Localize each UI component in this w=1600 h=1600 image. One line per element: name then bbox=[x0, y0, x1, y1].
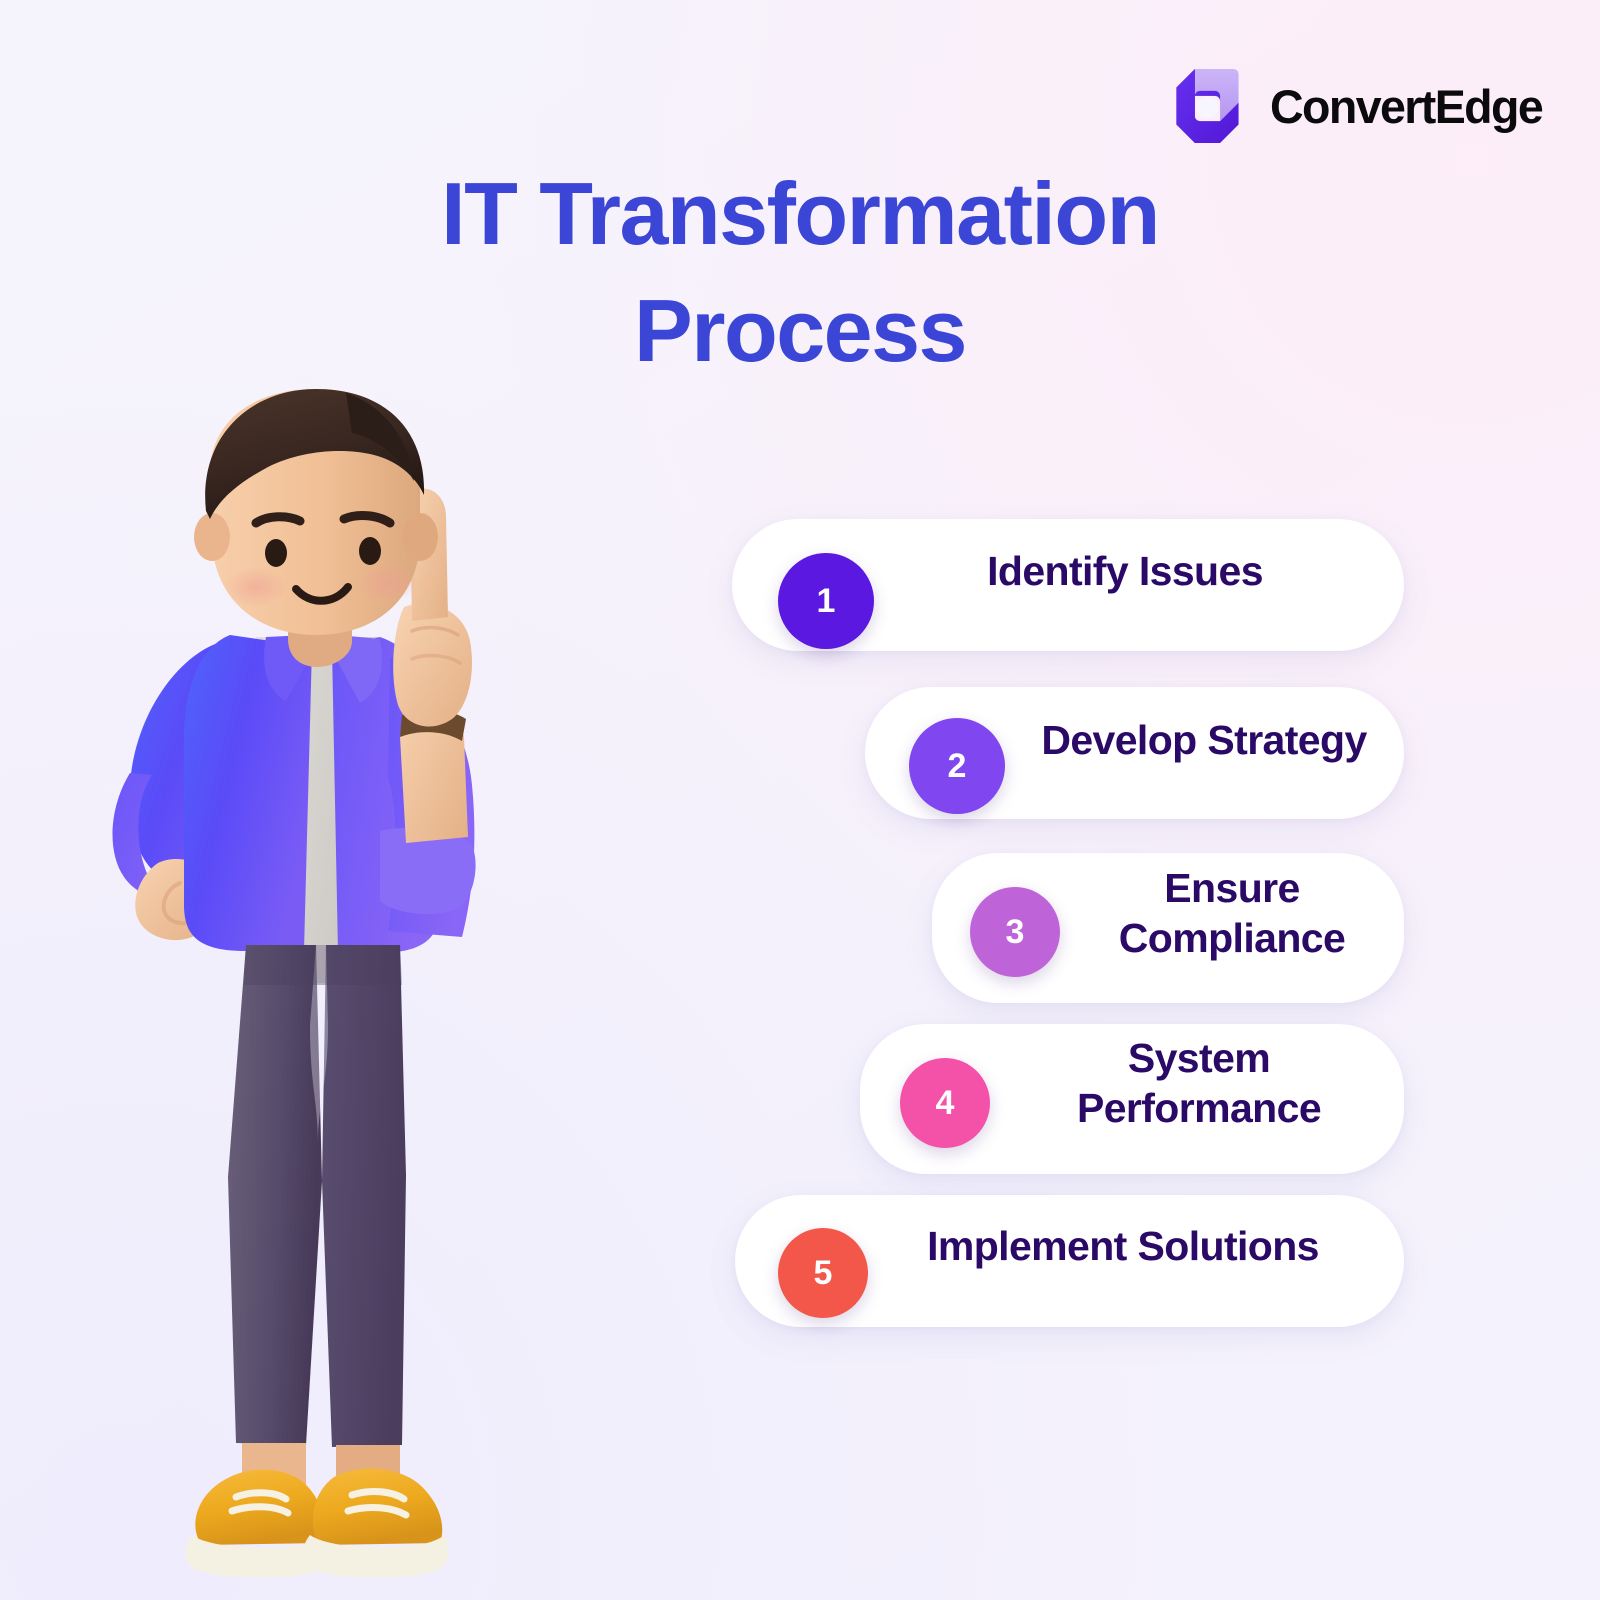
step-label: Develop Strategy bbox=[1018, 715, 1390, 765]
step-label: System Performance bbox=[1008, 1033, 1390, 1133]
character-illustration bbox=[60, 385, 620, 1600]
brand-wordmark: ConvertEdge bbox=[1270, 79, 1542, 134]
character-ear-left bbox=[194, 513, 230, 561]
step-number-badge: 4 bbox=[900, 1058, 990, 1148]
step-number: 1 bbox=[817, 584, 836, 618]
brand-logo[interactable]: ConvertEdge bbox=[1168, 64, 1545, 148]
character-leg-right bbox=[322, 945, 406, 1447]
step-number: 4 bbox=[936, 1086, 955, 1120]
step-label: Ensure Compliance bbox=[1072, 863, 1392, 963]
character-ear-right bbox=[402, 513, 438, 561]
character-leg-left bbox=[228, 945, 322, 1445]
character-right-hand bbox=[393, 604, 472, 727]
step-label: Implement Solutions bbox=[888, 1221, 1358, 1271]
step-label: Identify Issues bbox=[890, 546, 1360, 596]
step-number-badge: 1 bbox=[778, 553, 874, 649]
page-title-line-2: Process bbox=[300, 272, 1300, 389]
step-number-badge: 3 bbox=[970, 887, 1060, 977]
character-shoe-right bbox=[302, 1469, 448, 1578]
page-title: IT Transformation Process bbox=[300, 155, 1300, 389]
convertedge-logo-icon bbox=[1168, 64, 1252, 148]
step-number-badge: 2 bbox=[909, 718, 1005, 814]
step-number: 3 bbox=[1006, 915, 1025, 949]
character-eye-left bbox=[265, 539, 287, 567]
step-number: 5 bbox=[814, 1256, 833, 1290]
character-eye-right bbox=[359, 537, 381, 565]
page-title-line-1: IT Transformation bbox=[441, 164, 1159, 263]
step-number: 2 bbox=[948, 749, 967, 783]
step-number-badge: 5 bbox=[778, 1228, 868, 1318]
process-step-list: 1 Identify Issues 2 Develop Strategy 3 E… bbox=[700, 505, 1440, 1345]
infographic-poster: ConvertEdge IT Transformation Process bbox=[0, 0, 1600, 1600]
